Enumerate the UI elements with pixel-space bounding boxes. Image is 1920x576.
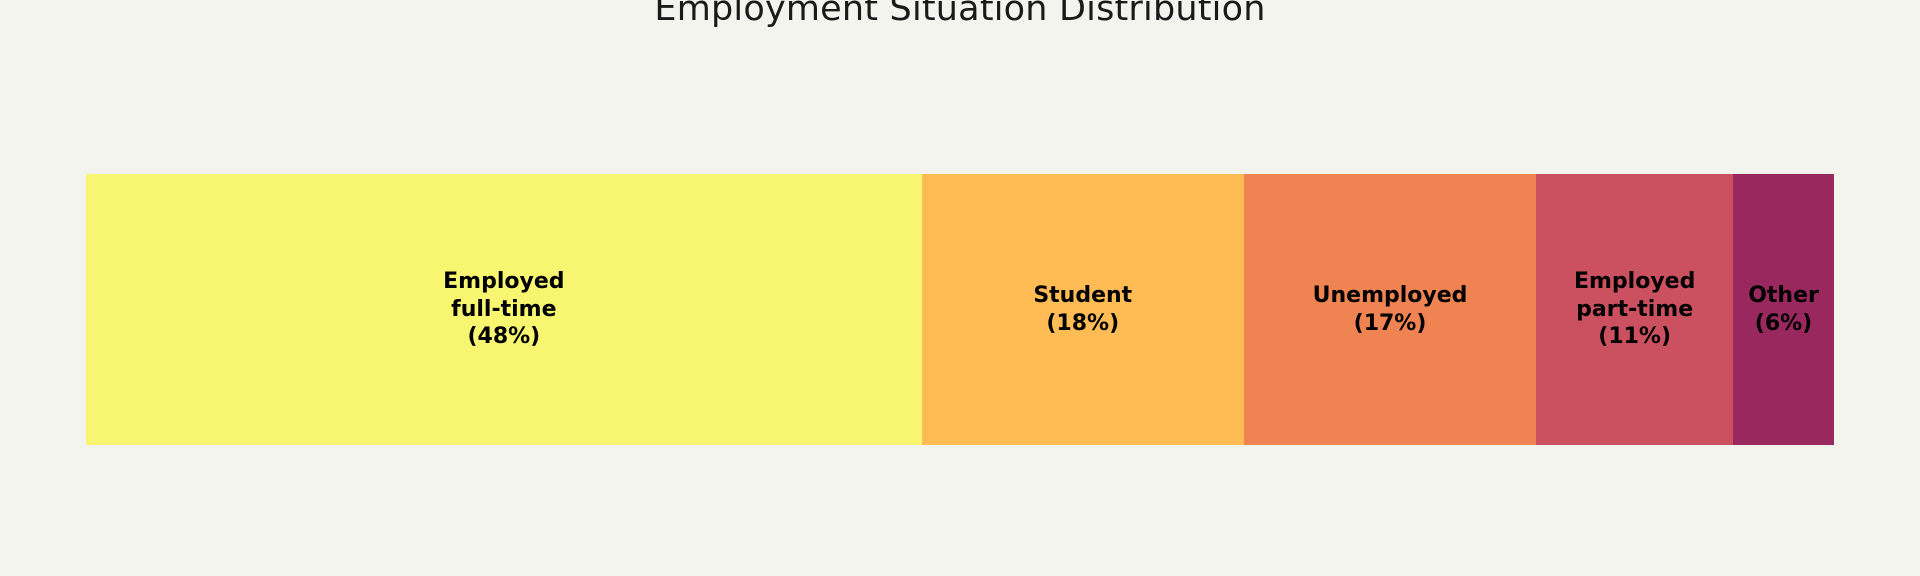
bar-segment-student[interactable]: Student (18%) xyxy=(922,174,1244,445)
chart-title: Employment Situation Distribution xyxy=(0,0,1920,31)
bar-segment-label: Other (6%) xyxy=(1746,282,1821,337)
stacked-bar: Employed full-time (48%) Student (18%) U… xyxy=(86,174,1834,445)
bar-segment-label: Student (18%) xyxy=(1031,282,1134,337)
bar-segment-employed-full-time[interactable]: Employed full-time (48%) xyxy=(86,174,922,445)
bar-segment-label: Employed part-time (11%) xyxy=(1572,268,1697,351)
bar-segment-label: Employed full-time (48%) xyxy=(441,268,566,351)
bar-segment-employed-part-time[interactable]: Employed part-time (11%) xyxy=(1536,174,1733,445)
bar-segment-other[interactable]: Other (6%) xyxy=(1733,174,1834,445)
bar-segment-label: Unemployed (17%) xyxy=(1311,282,1470,337)
bar-segment-unemployed[interactable]: Unemployed (17%) xyxy=(1244,174,1537,445)
chart-figure: Employment Situation Distribution Employ… xyxy=(0,0,1920,576)
